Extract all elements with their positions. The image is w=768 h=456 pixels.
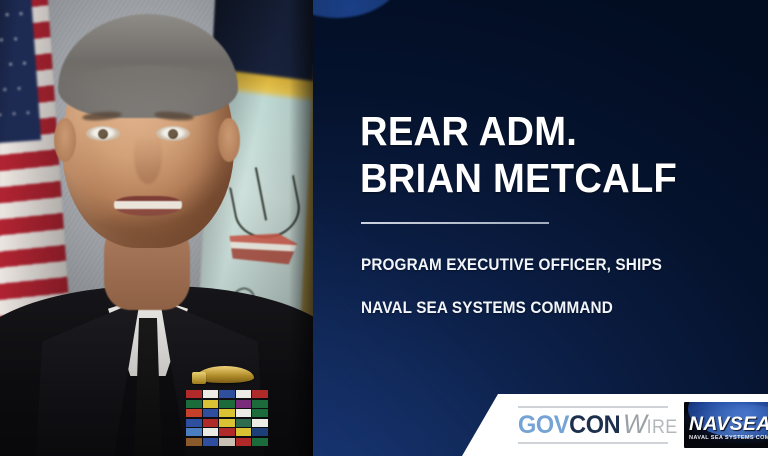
speaker-name-title: REAR ADM. BRIAN METCALF	[360, 108, 677, 202]
chin-shadow	[94, 212, 204, 248]
ribbon-row	[186, 409, 268, 417]
ear-right	[218, 118, 240, 162]
speaker-portrait-photo	[0, 0, 313, 456]
navsea-tagline-text: NAVAL SEA SYSTEMS COMMAND	[689, 435, 768, 441]
govconwire-ire-text: IRE	[647, 413, 678, 442]
govconwire-gov-text: GOV	[518, 411, 569, 440]
hair	[58, 14, 238, 118]
navsea-logo[interactable]: NAVSEA NAVAL SEA SYSTEMS COMMAND	[684, 402, 768, 448]
navsea-brand-text: NAVSEA	[689, 414, 768, 436]
speaker-announcement-banner: REAR ADM. BRIAN METCALF PROGRAM EXECUTIV…	[0, 0, 768, 456]
ribbon-row	[186, 400, 268, 408]
nose	[134, 130, 162, 184]
logo-rule-bottom	[518, 442, 668, 444]
title-divider	[361, 222, 549, 224]
ribbon-row	[186, 438, 268, 446]
eye-left	[86, 126, 120, 141]
ear-left	[54, 118, 76, 162]
speaker-organization-line: NAVAL SEA SYSTEMS COMMAND	[361, 298, 613, 318]
portrait-subject	[0, 0, 313, 456]
govconwire-logo[interactable]: GOVCONWIRE	[518, 406, 668, 444]
govconwire-con-text: CON	[569, 411, 620, 440]
ribbon-rack-device-icon	[192, 372, 206, 384]
eye-right	[156, 126, 190, 141]
govconwire-w-text: W	[620, 410, 646, 439]
ribbon-row	[186, 428, 268, 436]
ribbon-row	[186, 390, 268, 398]
service-ribbon-rack	[186, 390, 268, 446]
photo-edge-shadow	[289, 0, 313, 456]
logo-rule-top	[518, 406, 668, 408]
title-panel: REAR ADM. BRIAN METCALF PROGRAM EXECUTIV…	[313, 0, 768, 456]
govconwire-wordmark: GOVCONWIRE	[518, 410, 678, 442]
ribbon-row	[186, 419, 268, 427]
title-panel-content: REAR ADM. BRIAN METCALF PROGRAM EXECUTIV…	[360, 0, 732, 456]
speaker-role-line: PROGRAM EXECUTIVE OFFICER, SHIPS	[361, 255, 662, 275]
